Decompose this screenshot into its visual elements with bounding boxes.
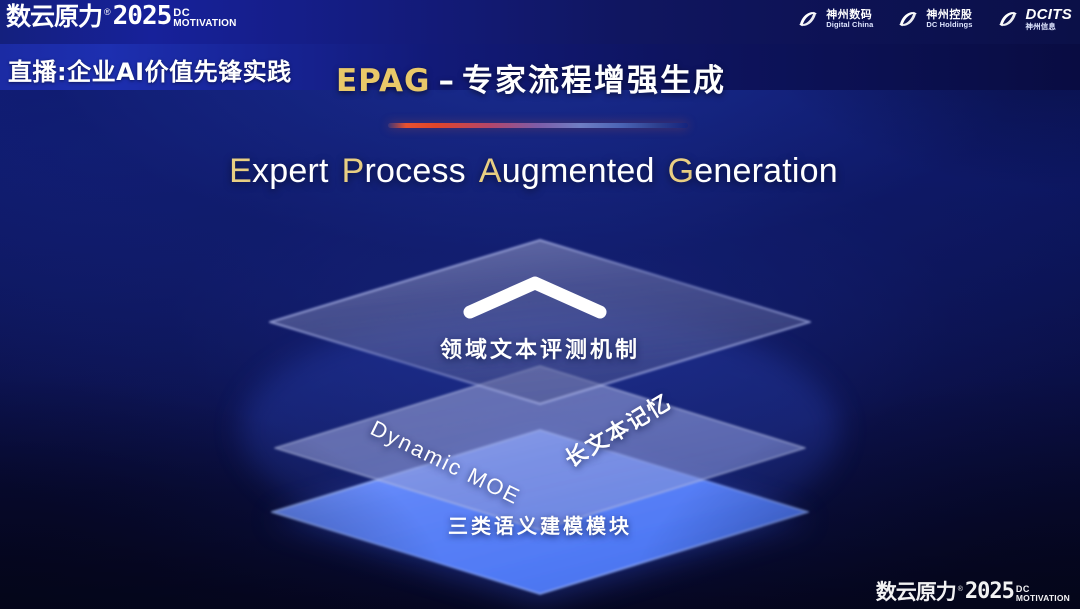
swirl-icon (995, 6, 1021, 32)
partner-name-cn: 神州信息 (1026, 23, 1073, 31)
partner-name-en: DCITS (1026, 7, 1073, 23)
headline-word-4-cap: G (668, 152, 695, 190)
headline-word-2-cap: P (342, 152, 365, 190)
slide-title-dash: – (439, 63, 455, 99)
brand-logo-year: 2025 (113, 3, 172, 29)
brand-logo-dc-line1: DC (173, 8, 236, 18)
headline-word-3-rest: ugmented (502, 152, 655, 190)
partner-text: DCITS 神州信息 (1026, 7, 1073, 31)
live-title: 直播:企业AI价值先锋实践 (8, 52, 292, 87)
brand-logo-dc: DC MOTIVATION (173, 8, 236, 28)
brand-logo-cn: 数云原力 (6, 4, 102, 29)
partner-logo-dc-holdings: 神州控股 DC Holdings (895, 6, 972, 32)
partner-text: 神州数码 Digital China (826, 9, 873, 28)
slide-title: EPAG–专家流程增强生成 (336, 55, 726, 100)
partner-name-en: Digital China (826, 21, 873, 29)
brand-logo-registered: ® (104, 8, 111, 17)
watermark-logo-cn: 数云原力 (876, 582, 956, 603)
watermark-registered: ® (958, 586, 963, 593)
headline-word-2: Process (342, 152, 466, 190)
headline-word-1-cap: E (229, 152, 252, 190)
slide-title-chinese: 专家流程增强生成 (462, 63, 726, 99)
swirl-icon (795, 6, 821, 32)
partner-text: 神州控股 DC Holdings (926, 9, 972, 28)
brand-logo: 数云原力 ® 2025 DC MOTIVATION (6, 3, 237, 29)
headline-word-4: Generation (668, 152, 838, 190)
brand-watermark: 数云原力 ® 2025 DC MOTIVATION (876, 581, 1070, 603)
watermark-dc: DC MOTIVATION (1016, 585, 1070, 602)
headline-word-3-cap: A (479, 152, 502, 190)
watermark-year: 2025 (965, 581, 1014, 603)
partner-logo-digital-china: 神州数码 Digital China (795, 6, 873, 32)
headline: ExpertProcessAugmentedGeneration (0, 152, 1080, 191)
partner-logo-dcits: DCITS 神州信息 (995, 6, 1073, 32)
headline-word-2-rest: rocess (365, 152, 466, 190)
partner-name-en: DC Holdings (926, 21, 972, 29)
swirl-icon (895, 6, 921, 32)
headline-word-3: Augmented (479, 152, 655, 190)
brand-logo-dc-line2: MOTIVATION (173, 19, 236, 29)
partner-logo-group: 神州数码 Digital China 神州控股 DC Holdings DCIT… (795, 6, 1072, 32)
headline-word-1-rest: xpert (252, 152, 329, 190)
title-divider (388, 123, 688, 128)
watermark-dc-line2: MOTIVATION (1016, 594, 1070, 602)
headline-word-1: Expert (229, 152, 328, 190)
slide-title-acronym: EPAG (336, 63, 431, 99)
slide-canvas: 领域文本评测机制 Dynamic MOE 长文本记忆 三类语义建模模块 数云原力… (0, 0, 1080, 609)
headline-word-4-rest: eneration (694, 152, 838, 190)
